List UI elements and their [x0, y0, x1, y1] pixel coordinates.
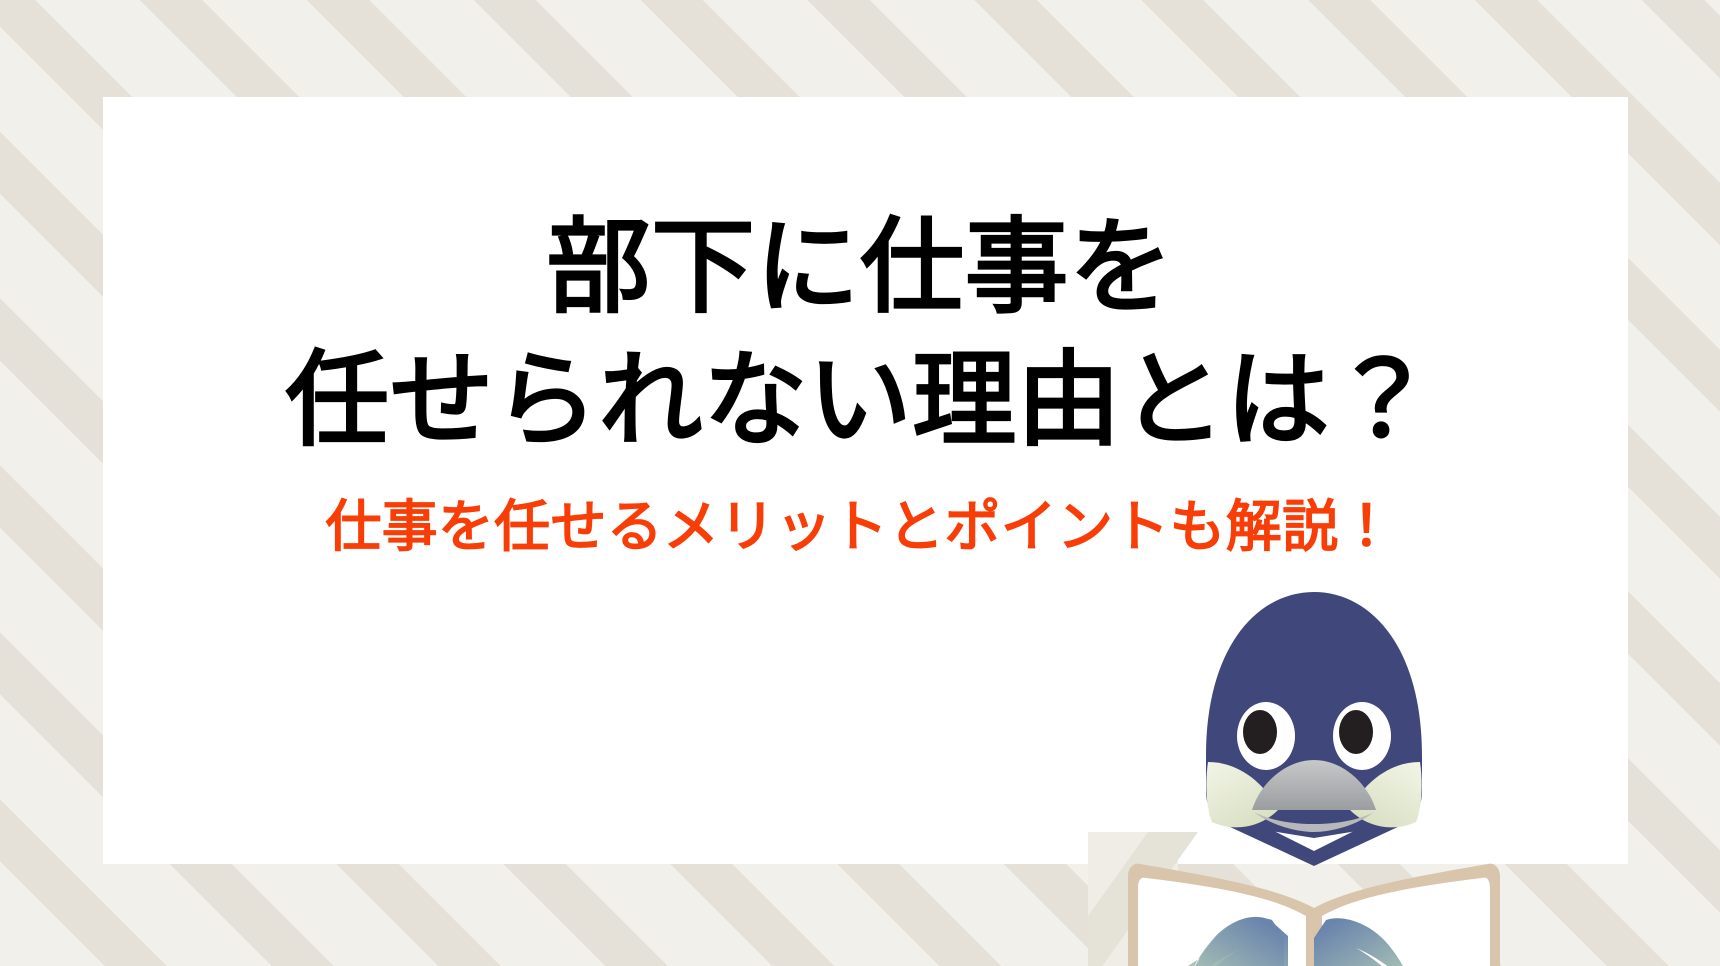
mascot-illustration	[1088, 576, 1508, 966]
